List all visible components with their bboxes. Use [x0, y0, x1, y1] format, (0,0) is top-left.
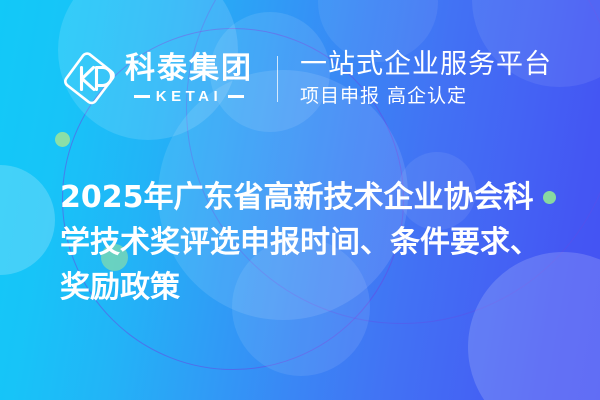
promo-banner: 科泰集团 KETAI 一站式企业服务平台 项目申报 高企认定 2025年广东省高…: [0, 0, 600, 400]
ketai-kd-monogram-icon: [62, 50, 118, 108]
tagline-block: 一站式企业服务平台 项目申报 高企认定: [300, 50, 552, 108]
wordmark-rule-left: [134, 95, 150, 98]
accent-dot-left: [55, 132, 70, 147]
decorative-circle-left-edge: [0, 165, 55, 275]
wordmark-rule-right: [228, 95, 244, 98]
brand-name-en: KETAI: [150, 89, 228, 104]
tagline-main: 一站式企业服务平台: [300, 50, 552, 79]
brand-name-en-row: KETAI: [125, 89, 253, 104]
tagline-sub: 项目申报 高企认定: [300, 86, 552, 108]
header-divider: [277, 56, 278, 102]
banner-header: 科泰集团 KETAI 一站式企业服务平台 项目申报 高企认定: [0, 40, 600, 118]
brand-name-cn: 科泰集团: [125, 54, 253, 84]
brand-logo[interactable]: 科泰集团 KETAI: [62, 50, 253, 108]
headline-title: 2025年广东省高新技术企业协会科学技术奖评选申报时间、条件要求、奖励政策: [60, 175, 560, 310]
brand-wordmark: 科泰集团 KETAI: [125, 54, 253, 104]
